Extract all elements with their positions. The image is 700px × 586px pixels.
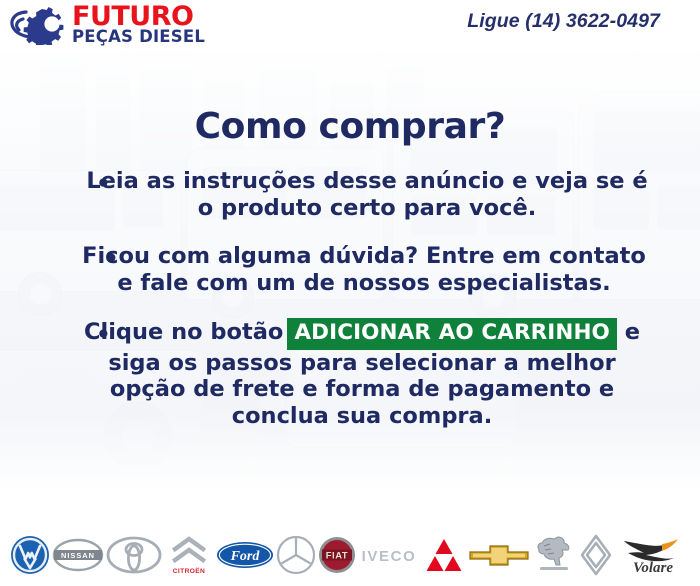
bullet-marker: • bbox=[96, 324, 111, 347]
brand-logo-mitsubishi bbox=[422, 532, 466, 578]
brand-logo-mercedes-benz bbox=[276, 532, 316, 578]
bullet-text-contact-specialist: Ficou com alguma dúvida? Entre em contat… bbox=[46, 243, 654, 296]
svg-text:FIAT: FIAT bbox=[326, 550, 349, 561]
brand-logo-strip: NISSAN CITROËN Ford bbox=[0, 524, 700, 586]
brand-logo-ford: Ford bbox=[216, 532, 274, 578]
phone-number: Ligue (14) 3622-0497 bbox=[467, 10, 660, 33]
promo-banner: FUTURO PEÇAS DIESEL Ligue (14) 3622-0497… bbox=[0, 0, 700, 586]
bullet-text-before-cta: Clique no botão bbox=[84, 319, 283, 345]
logo-text-futuro: FUTURO bbox=[72, 3, 205, 30]
bullet-text-add-to-cart: Clique no botãoADICIONAR AO CARRINHO e s… bbox=[46, 318, 654, 429]
svg-text:CITROËN: CITROËN bbox=[173, 567, 205, 575]
bullet-text-read-instructions: Leia as instruções desse anúncio e veja … bbox=[46, 168, 654, 221]
brand-logo-chevrolet bbox=[468, 532, 530, 578]
list-item: • Clique no botãoADICIONAR AO CARRINHO e… bbox=[0, 318, 700, 429]
list-item: • Ficou com alguma dúvida? Entre em cont… bbox=[0, 243, 700, 296]
svg-text:IVECO: IVECO bbox=[362, 548, 417, 565]
brand-logo-citroen: CITROËN bbox=[164, 532, 214, 578]
logo-text-pecas-diesel: PEÇAS DIESEL bbox=[72, 29, 205, 46]
gear-swoosh-icon bbox=[8, 3, 70, 45]
brand-logo-nissan: NISSAN bbox=[52, 532, 104, 578]
bullet-marker: • bbox=[96, 173, 111, 196]
page-title: Como comprar? bbox=[0, 106, 700, 147]
add-to-cart-button-label[interactable]: ADICIONAR AO CARRINHO bbox=[287, 318, 617, 349]
brand-logo-renault bbox=[578, 532, 614, 578]
brand-logo-peugeot bbox=[532, 532, 576, 578]
list-item: • Leia as instruções desse anúncio e vej… bbox=[0, 168, 700, 221]
brand-logo-volkswagen bbox=[10, 532, 50, 578]
banner-content: Como comprar? • Leia as instruções desse… bbox=[0, 0, 700, 520]
bullet-marker: • bbox=[104, 248, 119, 271]
brand-logo-toyota bbox=[106, 532, 162, 578]
banner-header: FUTURO PEÇAS DIESEL Ligue (14) 3622-0497 bbox=[0, 0, 700, 52]
svg-text:Ford: Ford bbox=[230, 549, 261, 564]
brand-logo-volare: Volare bbox=[616, 532, 690, 578]
svg-text:Volare: Volare bbox=[633, 560, 673, 575]
brand-logo-iveco: IVECO bbox=[358, 532, 420, 578]
brand-logo: FUTURO PEÇAS DIESEL bbox=[8, 3, 205, 46]
instructions-list: • Leia as instruções desse anúncio e vej… bbox=[0, 168, 700, 429]
svg-text:NISSAN: NISSAN bbox=[61, 551, 95, 560]
brand-logo-fiat: FIAT bbox=[318, 532, 356, 578]
